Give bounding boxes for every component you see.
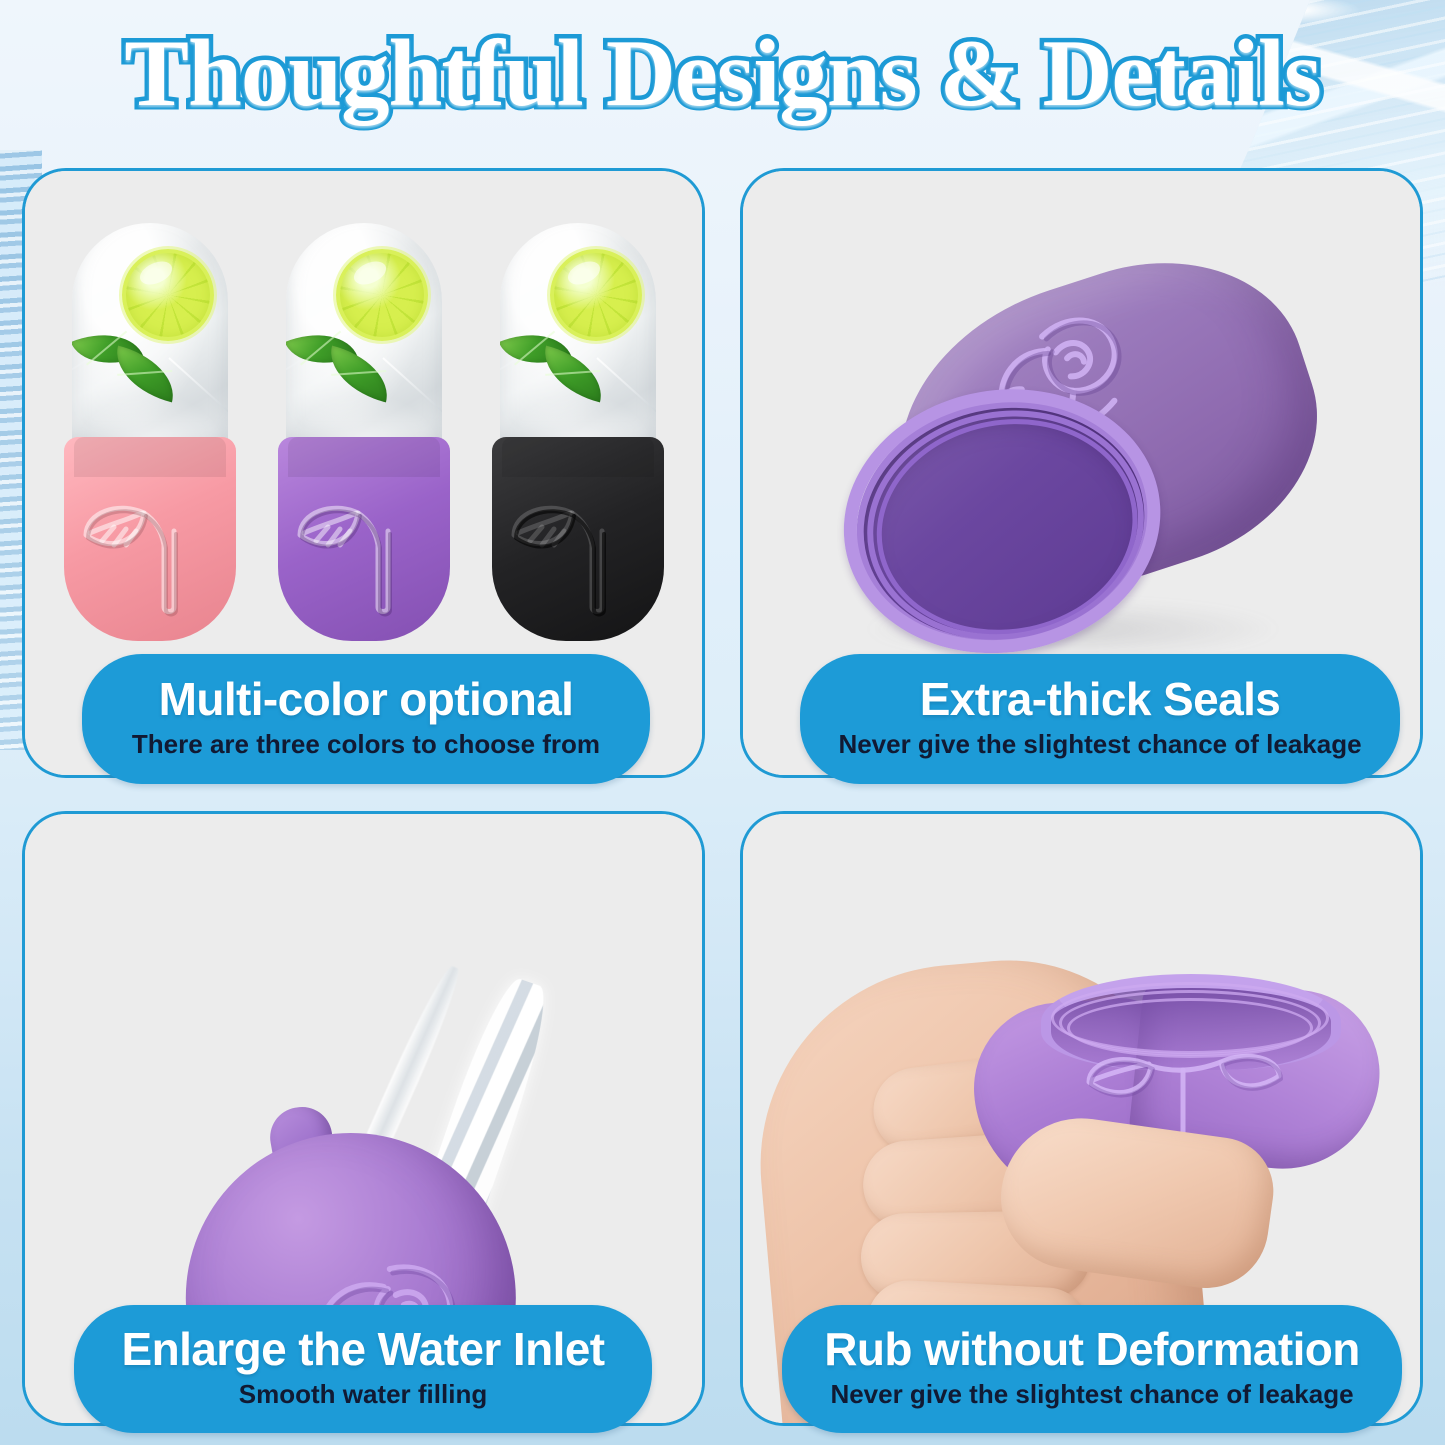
mint-leaves <box>76 327 180 405</box>
leaf-emboss-icon <box>506 491 648 623</box>
capsule-mould-pink <box>64 223 236 643</box>
base-lip <box>74 437 226 477</box>
caption-heading: Enlarge the Water Inlet <box>122 1324 605 1376</box>
mint-leaf <box>321 346 395 403</box>
caption-subheading: Smooth water filling <box>239 1379 487 1410</box>
mint-leaves <box>290 327 394 405</box>
feature-grid: Multi-color optional There are three col… <box>22 168 1423 1426</box>
caption-heading: Multi-color optional <box>159 674 574 726</box>
caption-pill-rub-without-deformation: Rub without Deformation Never give the s… <box>782 1305 1402 1433</box>
mint-leaf <box>535 346 609 403</box>
caption-pill-water-inlet: Enlarge the Water Inlet Smooth water fil… <box>74 1305 652 1433</box>
capsule-mould-purple <box>278 223 450 643</box>
ice-dome <box>72 223 228 455</box>
base-lip <box>502 437 654 477</box>
capsule-mould-black <box>492 223 664 643</box>
caption-subheading: There are three colors to choose from <box>132 729 600 760</box>
infographic-page: Thoughtful Designs & Details <box>0 0 1445 1445</box>
silicone-base-purple <box>278 437 450 641</box>
mint-leaves <box>504 327 608 405</box>
ice-dome <box>500 223 656 455</box>
silicone-base-black <box>492 437 664 641</box>
caption-pill-multi-color: Multi-color optional There are three col… <box>82 654 650 784</box>
capsule-mould-row <box>25 223 702 643</box>
ice-dome <box>286 223 442 455</box>
silicone-seal-cup <box>802 222 1360 684</box>
caption-subheading: Never give the slightest chance of leaka… <box>838 729 1361 760</box>
mint-leaf <box>107 346 181 403</box>
caption-heading: Rub without Deformation <box>824 1324 1360 1376</box>
leaf-emboss-icon <box>292 491 434 623</box>
page-title: Thoughtful Designs & Details <box>0 24 1445 124</box>
leaf-emboss-icon <box>78 491 220 623</box>
caption-subheading: Never give the slightest chance of leaka… <box>830 1379 1353 1410</box>
caption-pill-extra-thick-seals: Extra-thick Seals Never give the slighte… <box>800 654 1400 784</box>
base-lip <box>288 437 440 477</box>
silicone-base-pink <box>64 437 236 641</box>
caption-heading: Extra-thick Seals <box>920 674 1281 726</box>
